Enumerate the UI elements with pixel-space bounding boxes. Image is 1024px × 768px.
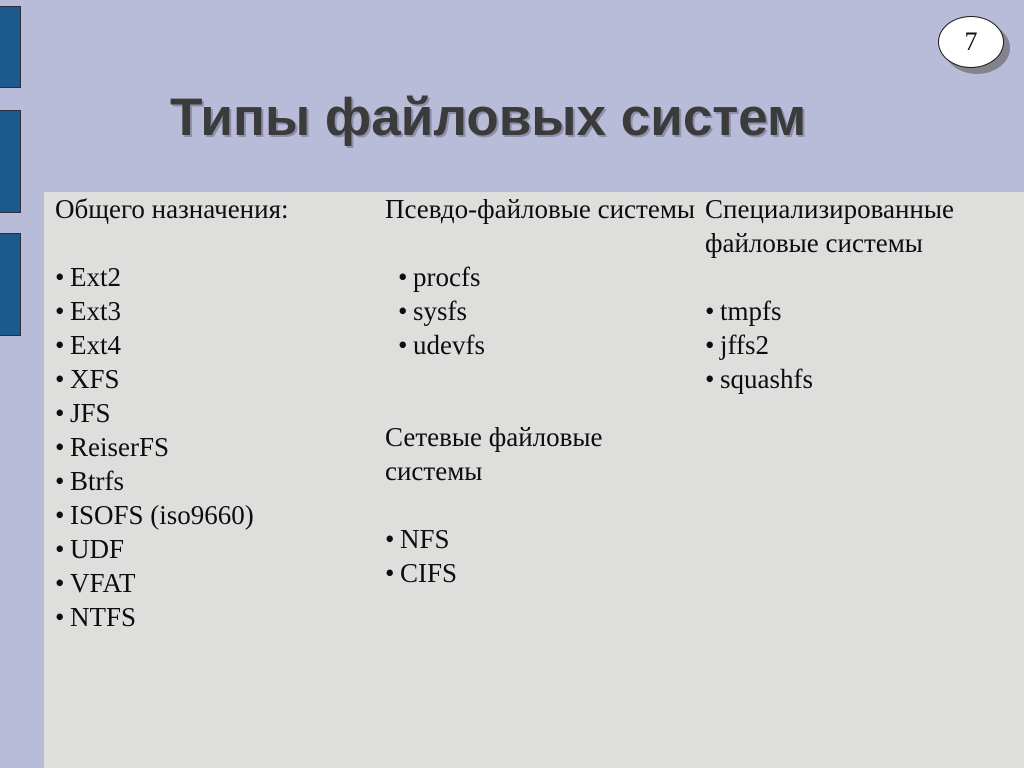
- filesystem-list-network: NFS CIFS: [385, 522, 705, 590]
- list-item: ReiserFS: [55, 430, 385, 464]
- spacer: [55, 226, 385, 260]
- list-item: udevfs: [398, 328, 705, 362]
- filesystem-list-general: Ext2 Ext3 Ext4 XFS JFS ReiserFS Btrfs IS…: [55, 260, 385, 634]
- column-specialized: Специализированные файловые системы tmpf…: [705, 192, 1024, 396]
- page-number-badge: 7: [938, 16, 1010, 72]
- filesystem-list-specialized: tmpfs jffs2 squashfs: [705, 294, 1024, 396]
- decorative-bar-3: [0, 233, 21, 336]
- list-item: Ext2: [55, 260, 385, 294]
- filesystem-list-pseudo: procfs sysfs udevfs: [398, 260, 705, 362]
- column-heading: Общего назначения:: [55, 192, 385, 226]
- list-item: ISOFS (iso9660): [55, 498, 385, 532]
- page-title: Типы файловых систем: [170, 88, 930, 148]
- spacer: [385, 488, 705, 522]
- list-item: tmpfs: [705, 294, 1024, 328]
- list-item: jffs2: [705, 328, 1024, 362]
- column-general-purpose: Общего назначения: Ext2 Ext3 Ext4 XFS JF…: [55, 192, 385, 634]
- column-pseudo-and-network: Псевдо-файловые системы procfs sysfs ude…: [385, 192, 705, 590]
- list-item: squashfs: [705, 362, 1024, 396]
- page-number-value: 7: [938, 16, 1004, 68]
- list-item: sysfs: [398, 294, 705, 328]
- slide: 7 Типы файловых систем Общего назначения…: [0, 0, 1024, 768]
- list-item: Ext3: [55, 294, 385, 328]
- list-item: Ext4: [55, 328, 385, 362]
- spacer: [705, 260, 1024, 294]
- list-item: XFS: [55, 362, 385, 396]
- list-item: procfs: [398, 260, 705, 294]
- column-heading-network: Сетевые файловые системы: [385, 420, 705, 488]
- column-heading: Специализированные файловые системы: [705, 192, 1024, 260]
- list-item: UDF: [55, 532, 385, 566]
- list-item: CIFS: [385, 556, 705, 590]
- list-item: JFS: [55, 396, 385, 430]
- column-heading: Псевдо-файловые системы: [385, 192, 705, 226]
- decorative-bar-1: [0, 6, 21, 88]
- decorative-bar-2: [0, 110, 21, 213]
- spacer: [385, 226, 705, 260]
- spacer: [385, 362, 705, 420]
- content-panel: Общего назначения: Ext2 Ext3 Ext4 XFS JF…: [44, 192, 1024, 768]
- list-item: NFS: [385, 522, 705, 556]
- list-item: Btrfs: [55, 464, 385, 498]
- list-item: NTFS: [55, 600, 385, 634]
- list-item: VFAT: [55, 566, 385, 600]
